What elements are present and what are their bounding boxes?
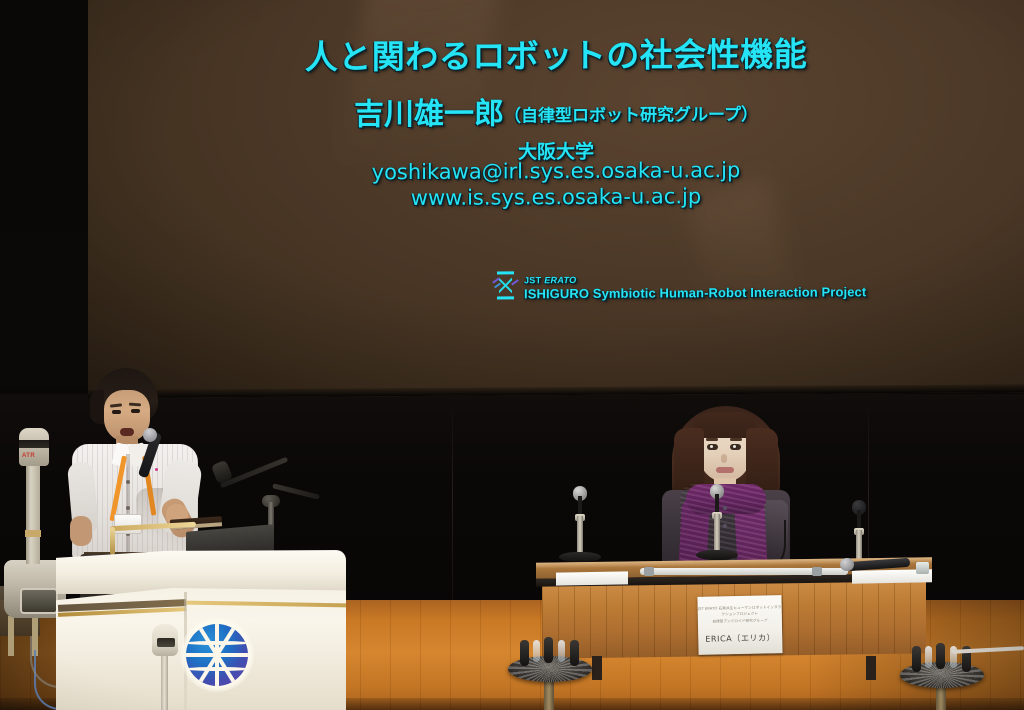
placard-robot-name: ERICA（エリカ） — [705, 632, 775, 644]
strip-clip — [644, 567, 654, 576]
table-cup — [916, 562, 929, 574]
screenshot-root: 人と関わるロボットの社会性機能 吉川雄一郎（自律型ロボット研究グループ） 大阪大… — [0, 0, 1024, 710]
placard-line-1: JST ERATO 石黒共生ヒューマンロボットインタラクションプロジェクト — [698, 606, 782, 619]
presenter-hair-side — [90, 390, 104, 424]
strip-clip — [812, 567, 822, 576]
robot-lips — [716, 467, 734, 473]
table-leg — [866, 656, 876, 680]
spare-handheld-microphone-head — [840, 558, 854, 571]
table-leg — [592, 656, 602, 680]
lectern-lamp-stem — [161, 652, 168, 710]
sensor-pole-band — [25, 530, 41, 537]
sensor-pole-base-slot — [20, 588, 58, 614]
lectern-lamp-slot — [157, 638, 175, 647]
mic-array-stand — [936, 686, 946, 710]
presenter-mouth-open — [120, 428, 134, 436]
sensor-pole-shaft — [26, 460, 40, 564]
lectern-top — [56, 550, 346, 594]
sensor-pole-sensor-band — [19, 440, 49, 448]
mic-array-stand — [544, 680, 554, 710]
globe-grid-icon — [186, 624, 248, 686]
projection-screen: 人と関わるロボットの社会性機能 吉川雄一郎（自律型ロボット研究グループ） 大阪大… — [88, 0, 1024, 398]
robot-name-placard: JST ERATO 石黒共生ヒューマンロボットインタラクションプロジェクト 自律… — [697, 595, 782, 655]
microphone-led — [155, 468, 158, 471]
screen-vignette — [88, 0, 1024, 398]
placard-line-2: 自律型アンドロイド研究グループ — [712, 619, 767, 626]
atr-brand-label: ATR — [22, 453, 35, 459]
paper-sheet — [556, 571, 628, 585]
